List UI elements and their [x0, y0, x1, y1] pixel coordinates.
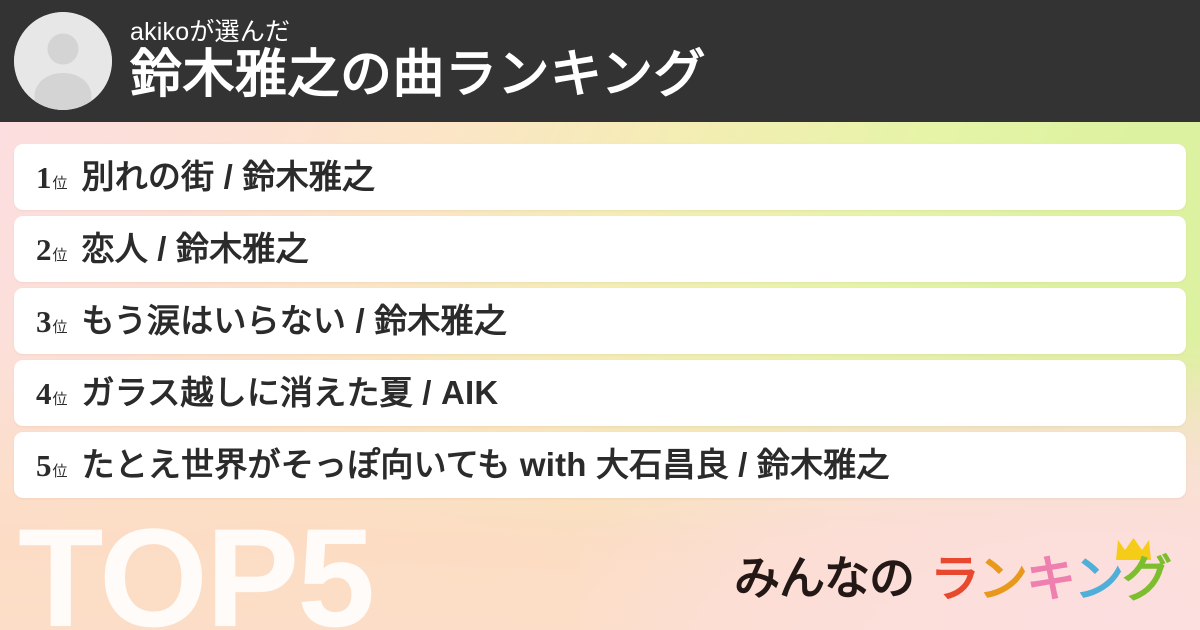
rank-number-value: 5	[36, 450, 52, 481]
svg-text:みんなの: みんなの	[734, 551, 914, 605]
rank-number: 2位	[36, 234, 68, 265]
top-count-label: TOP5	[18, 508, 373, 630]
rank-title: ガラス越しに消えた夏 / AIK	[82, 374, 499, 412]
rank-title: たとえ世界がそっぽ向いても with 大石昌良 / 鈴木雅之	[82, 446, 890, 484]
svg-text:グ: グ	[1122, 550, 1171, 608]
card-body: 1位 別れの街 / 鈴木雅之 2位 恋人 / 鈴木雅之 3位 もう涙はいらない …	[0, 122, 1200, 630]
header-eyebrow: akikoが選んだ	[130, 19, 706, 45]
rank-title: 恋人 / 鈴木雅之	[82, 230, 309, 268]
card-header: akikoが選んだ 鈴木雅之の曲ランキング	[0, 0, 1200, 122]
rank-number: 3位	[36, 306, 68, 337]
rank-title: もう涙はいらない / 鈴木雅之	[82, 302, 508, 340]
svg-text:ラ: ラ	[930, 550, 979, 608]
avatar	[14, 12, 112, 110]
svg-text:キ: キ	[1026, 550, 1075, 608]
list-item[interactable]: 5位 たとえ世界がそっぽ向いても with 大石昌良 / 鈴木雅之	[14, 432, 1186, 498]
ranking-list: 1位 別れの街 / 鈴木雅之 2位 恋人 / 鈴木雅之 3位 もう涙はいらない …	[14, 144, 1186, 504]
user-avatar-placeholder-icon	[14, 12, 112, 110]
list-item[interactable]: 2位 恋人 / 鈴木雅之	[14, 216, 1186, 282]
rank-number-value: 3	[36, 306, 52, 337]
page-title: 鈴木雅之の曲ランキング	[130, 47, 706, 103]
rank-number-unit: 位	[53, 392, 68, 407]
ranking-share-card: akikoが選んだ 鈴木雅之の曲ランキング 1位 別れの街 / 鈴木雅之 2位 …	[0, 0, 1200, 630]
rank-number-value: 1	[36, 162, 52, 193]
svg-text:ン: ン	[1074, 550, 1123, 608]
rank-number-value: 2	[36, 234, 52, 265]
rank-number-unit: 位	[53, 320, 68, 335]
rank-number-value: 4	[36, 378, 52, 409]
rank-number-unit: 位	[53, 248, 68, 263]
list-item[interactable]: 4位 ガラス越しに消えた夏 / AIK	[14, 360, 1186, 426]
rank-number-unit: 位	[53, 464, 68, 479]
list-item[interactable]: 3位 もう涙はいらない / 鈴木雅之	[14, 288, 1186, 354]
svg-text:ン: ン	[978, 550, 1027, 608]
rank-number: 1位	[36, 162, 68, 193]
header-text-block: akikoが選んだ 鈴木雅之の曲ランキング	[130, 19, 706, 102]
rank-number: 4位	[36, 378, 68, 409]
list-item[interactable]: 1位 別れの街 / 鈴木雅之	[14, 144, 1186, 210]
rank-number-unit: 位	[53, 176, 68, 191]
rank-title: 別れの街 / 鈴木雅之	[82, 158, 376, 196]
rank-number: 5位	[36, 450, 68, 481]
brand-logo[interactable]: みんなの ラ ン キ ン グ	[734, 544, 1174, 608]
